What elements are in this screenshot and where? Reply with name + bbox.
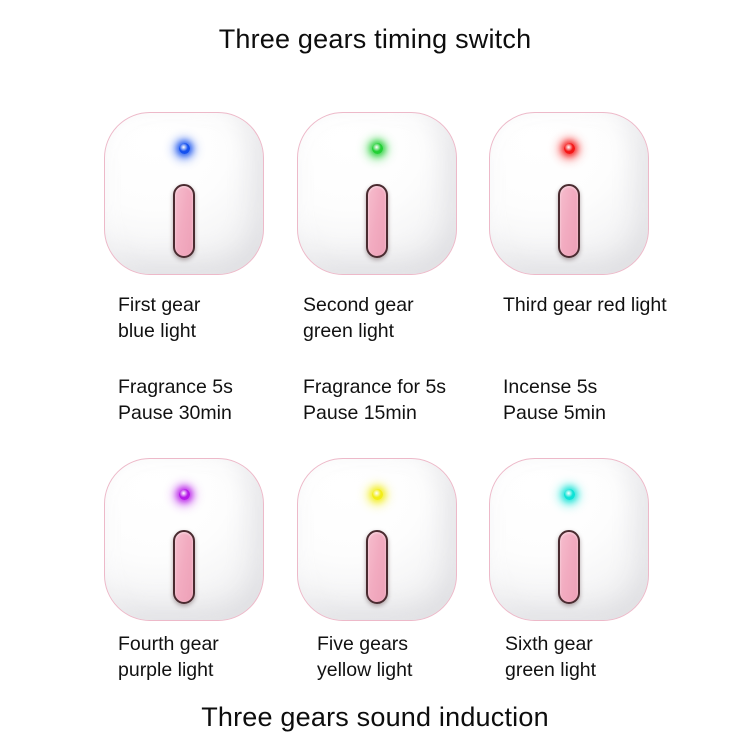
bottom-heading: Three gears sound induction [0, 702, 750, 733]
timing-label-third: Incense 5s Pause 5min [503, 374, 606, 426]
diffuser-device-first-gear[interactable] [104, 112, 264, 275]
blue-led [179, 143, 190, 154]
gear-label-second: Second gear green light [303, 292, 414, 344]
device-cell-first-gear [104, 112, 264, 275]
diffuser-device-fifth-gear[interactable] [297, 458, 457, 621]
green-led [372, 143, 383, 154]
fragrance-slot[interactable] [173, 184, 195, 258]
diffuser-device-second-gear[interactable] [297, 112, 457, 275]
gear-label-fourth: Fourth gear purple light [118, 631, 219, 683]
fragrance-slot[interactable] [558, 184, 580, 258]
gear-label-fifth: Five gears yellow light [317, 631, 412, 683]
device-cell-fourth-gear [104, 458, 264, 621]
diffuser-device-fourth-gear[interactable] [104, 458, 264, 621]
device-cell-third-gear [489, 112, 649, 275]
fragrance-slot[interactable] [558, 530, 580, 604]
device-cell-sixth-gear [489, 458, 649, 621]
device-cell-second-gear [297, 112, 457, 275]
fragrance-slot[interactable] [173, 530, 195, 604]
fragrance-slot[interactable] [366, 530, 388, 604]
gear-label-first: First gear blue light [118, 292, 200, 344]
gear-label-third: Third gear red light [503, 292, 667, 318]
red-led [564, 143, 575, 154]
device-cell-fifth-gear [297, 458, 457, 621]
timing-label-first: Fragrance 5s Pause 30min [118, 374, 233, 426]
cyan-led [564, 489, 575, 500]
fragrance-slot[interactable] [366, 184, 388, 258]
timing-label-second: Fragrance for 5s Pause 15min [303, 374, 446, 426]
product-infographic: Three gears timing switch F [0, 0, 750, 750]
purple-led [179, 489, 190, 500]
gear-label-sixth: Sixth gear green light [505, 631, 596, 683]
yellow-led [372, 489, 383, 500]
top-heading: Three gears timing switch [0, 24, 750, 55]
diffuser-device-third-gear[interactable] [489, 112, 649, 275]
diffuser-device-sixth-gear[interactable] [489, 458, 649, 621]
